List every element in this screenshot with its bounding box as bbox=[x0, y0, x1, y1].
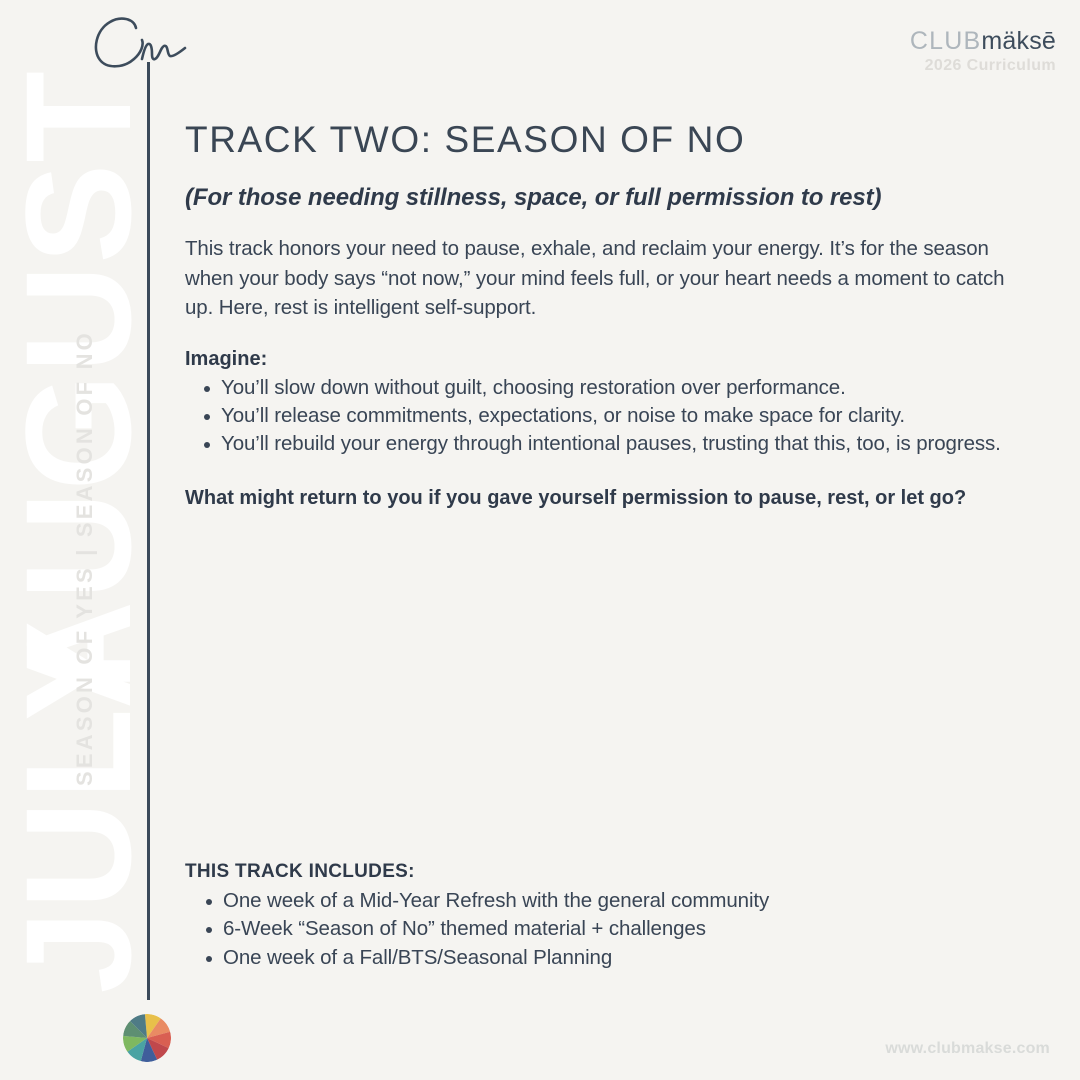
track-includes-section: THIS TRACK INCLUDES: One week of a Mid-Y… bbox=[185, 861, 1015, 972]
watermark-month-july: JULY bbox=[8, 620, 149, 994]
main-content: TRACK TWO: SEASON OF NO (For those needi… bbox=[185, 118, 1015, 512]
brand-wordmark: CLUBmäksē bbox=[910, 28, 1056, 54]
page-subtitle: (For those needing stillness, space, or … bbox=[185, 184, 1015, 212]
curriculum-page: AUGUST JULY SEASON OF YES | SEASON OF NO… bbox=[0, 0, 1080, 1080]
list-item: You’ll release commitments, expectations… bbox=[185, 402, 1015, 430]
brand-subtitle: 2026 Curriculum bbox=[910, 57, 1056, 75]
brand-header: CLUBmäksē 2026 Curriculum bbox=[910, 28, 1056, 75]
watermark-season-label: SEASON OF YES | SEASON OF NO bbox=[72, 330, 98, 786]
vertical-divider bbox=[147, 62, 150, 1000]
brand-name-club: CLUB bbox=[910, 27, 982, 55]
reflection-question: What might return to you if you gave you… bbox=[185, 484, 1015, 512]
month-watermark-group: AUGUST JULY bbox=[0, 0, 150, 1010]
spacer bbox=[185, 458, 1015, 484]
intro-paragraph: This track honors your need to pause, ex… bbox=[185, 234, 1015, 321]
track-includes-list: One week of a Mid-Year Refresh with the … bbox=[185, 887, 1015, 972]
brand-name-makse: mäksē bbox=[981, 27, 1056, 55]
imagine-heading: Imagine: bbox=[185, 348, 1015, 371]
watermark-month-august: AUGUST bbox=[8, 70, 149, 709]
list-item: 6-Week “Season of No” themed material + … bbox=[185, 915, 1015, 943]
page-title: TRACK TWO: SEASON OF NO bbox=[185, 118, 1015, 162]
imagine-list: You’ll slow down without guilt, choosing… bbox=[185, 374, 1015, 458]
list-item: You’ll slow down without guilt, choosing… bbox=[185, 374, 1015, 402]
list-item: You’ll rebuild your energy through inten… bbox=[185, 430, 1015, 458]
list-item: One week of a Mid-Year Refresh with the … bbox=[185, 887, 1015, 915]
list-item: One week of a Fall/BTS/Seasonal Planning bbox=[185, 944, 1015, 972]
color-wheel-icon bbox=[123, 1014, 171, 1062]
track-includes-heading: THIS TRACK INCLUDES: bbox=[185, 861, 1015, 883]
footer-website-url: www.clubmakse.com bbox=[885, 1040, 1050, 1058]
spacer bbox=[185, 322, 1015, 348]
signature-logo-icon bbox=[84, 14, 194, 76]
